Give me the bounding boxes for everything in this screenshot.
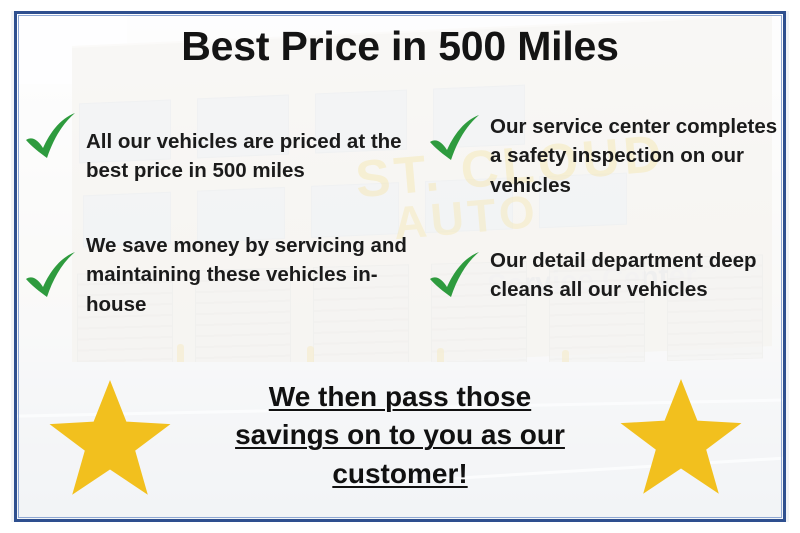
benefits-list: All our vehicles are priced at the best … — [22, 92, 784, 330]
poster-canvas: ST. CLOUD AUTO Service Center Best Price… — [0, 0, 800, 533]
list-item-label: We save money by servicing and maintaini… — [86, 231, 414, 318]
closing-statement: We then pass those savings on to you as … — [185, 378, 615, 493]
list-item: We save money by servicing and maintaini… — [22, 220, 414, 330]
list-item-label: Our service center completes a safety in… — [490, 112, 784, 199]
list-item: All our vehicles are priced at the best … — [22, 92, 414, 220]
list-item: Our detail department deep cleans all ou… — [414, 220, 784, 330]
green-check-icon — [426, 249, 484, 301]
page-title: Best Price in 500 Miles — [0, 24, 800, 69]
list-item: Our service center completes a safety in… — [414, 92, 784, 220]
closing-line-1: We then pass those — [269, 381, 531, 412]
list-item-label: Our detail department deep cleans all ou… — [490, 246, 784, 304]
list-item-label: All our vehicles are priced at the best … — [86, 127, 414, 185]
gold-star-icon — [47, 377, 173, 499]
gold-star-icon — [618, 376, 744, 498]
closing-line-3: customer! — [332, 458, 467, 489]
green-check-icon — [426, 112, 484, 164]
green-check-icon — [22, 249, 80, 301]
poster-content: Best Price in 500 Miles All our vehicles… — [0, 0, 800, 533]
closing-line-2: savings on to you as our — [235, 419, 565, 450]
green-check-icon — [22, 110, 80, 162]
